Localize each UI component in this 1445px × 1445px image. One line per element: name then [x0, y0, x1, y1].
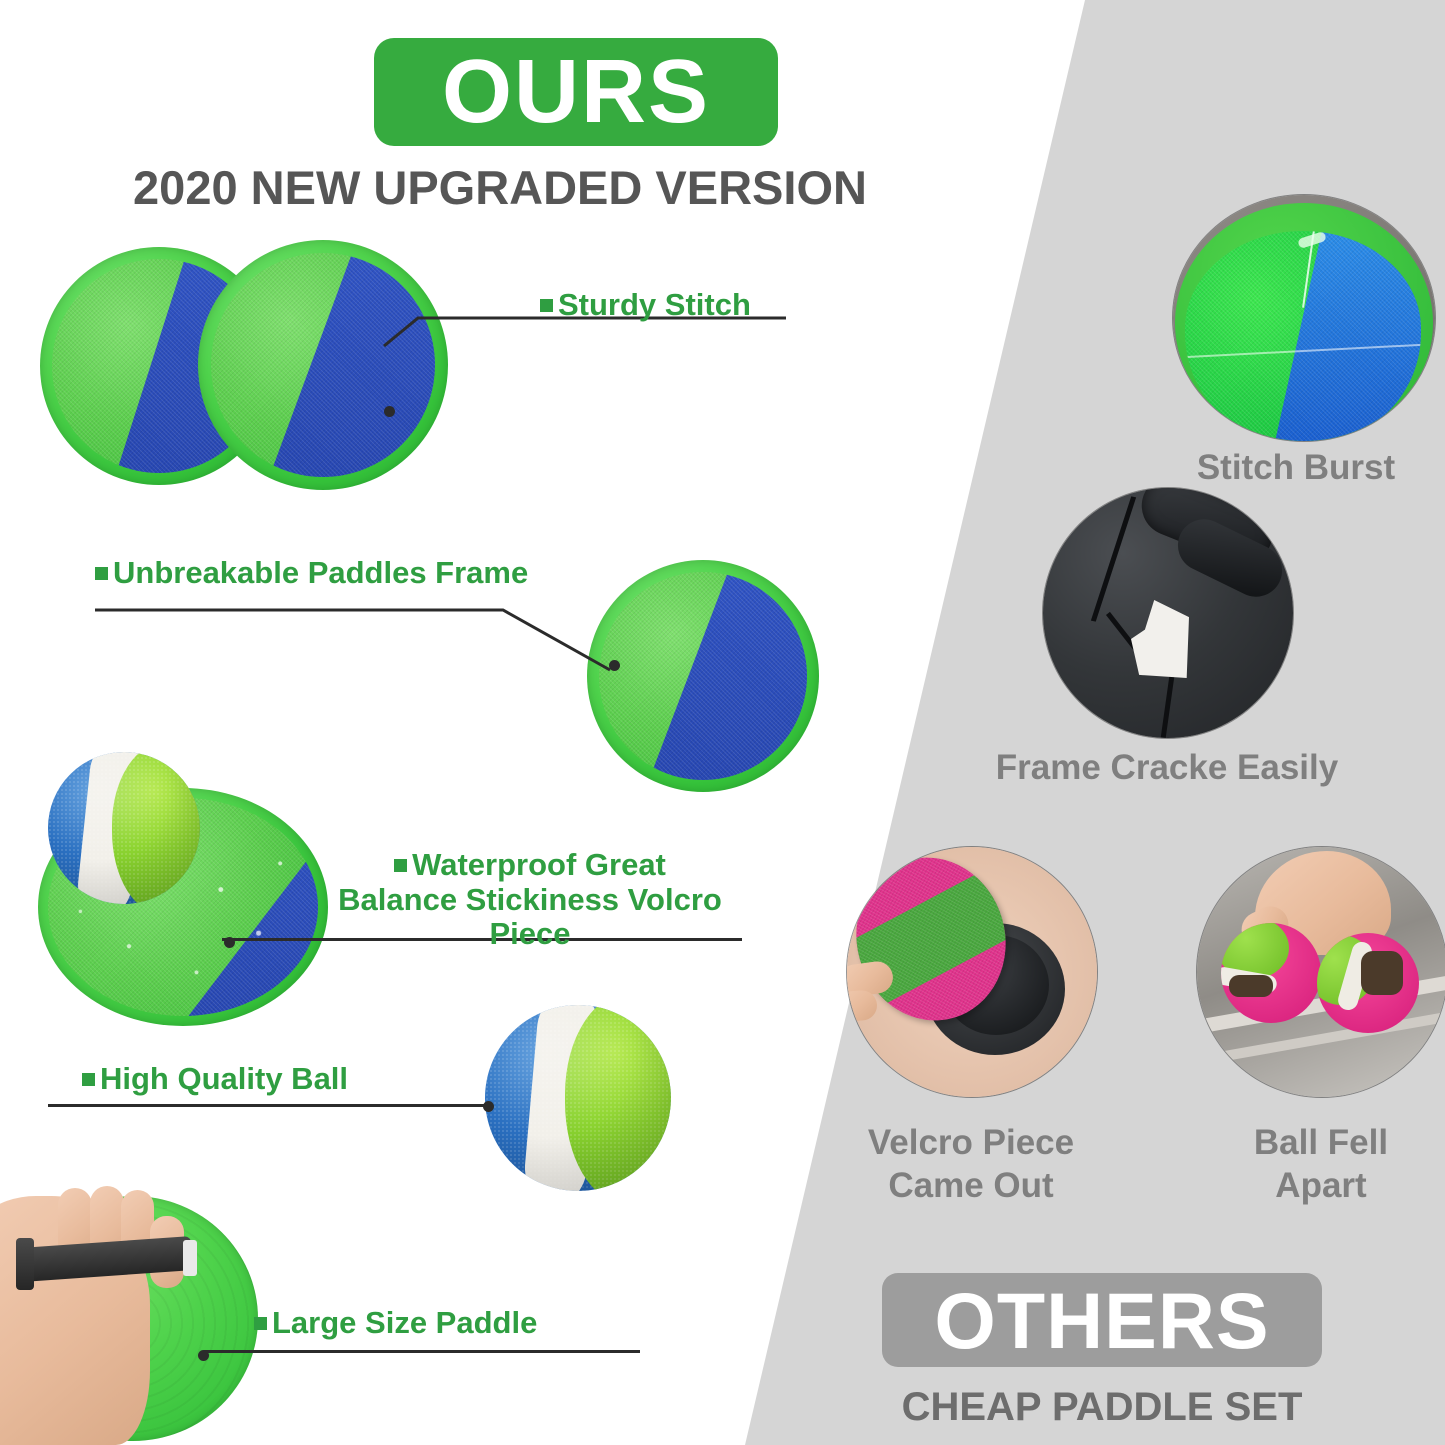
bullet-square-icon: [95, 567, 108, 580]
strap-buckle: [16, 1238, 34, 1290]
paddle-single: [587, 560, 819, 792]
ball-quality: [485, 1005, 671, 1191]
others-subtitle: CHEAP PADDLE SET: [862, 1385, 1342, 1430]
defect-label-stitch-burst: Stitch Burst: [1150, 447, 1442, 490]
callout-label-waterproof-l2: Balance Stickiness Volcro Piece: [338, 882, 722, 952]
torn-ball-1: [1221, 923, 1321, 1023]
photo-velcro-came-out: [846, 846, 1098, 1098]
strap-end: [183, 1240, 197, 1276]
leader-line-large-paddle: [204, 1350, 640, 1353]
callout-unbreakable-frame: Unbreakable Paddles Frame: [95, 556, 528, 591]
photo-waterproof-paddle: [38, 752, 338, 1014]
ours-badge: OURS: [374, 38, 778, 146]
photo-quality-ball: [485, 1005, 675, 1215]
photo-single-paddle: [587, 560, 819, 792]
callout-quality-ball: High Quality Ball: [82, 1062, 348, 1097]
torn-ball-2: [1317, 933, 1419, 1033]
callout-waterproof: Waterproof Great Balance Stickiness Volc…: [310, 848, 750, 952]
defect-label-velcro-came-out: Velcro Piece Came Out: [846, 1122, 1096, 1207]
ball-on-paddle: [48, 752, 200, 904]
ours-badge-label: OURS: [442, 47, 710, 137]
photo-hand-paddle: [0, 1196, 290, 1445]
photo-stitch-burst: [1172, 194, 1436, 442]
defect-label-frame-cracke: Frame Cracke Easily: [952, 747, 1382, 790]
callout-label-waterproof-l1: Waterproof Great: [412, 847, 666, 882]
leader-anchor-sturdy-stitch: [384, 406, 395, 417]
bullet-square-icon: [394, 859, 407, 872]
bullet-square-icon: [82, 1073, 95, 1086]
photo-frame-cracke: [1042, 487, 1294, 739]
defect-label-ball-l1: Ball Fell: [1196, 1122, 1445, 1165]
callout-sturdy-stitch: Sturdy Stitch: [540, 288, 751, 323]
bullet-square-icon: [540, 299, 553, 312]
leader-line-quality-ball: [48, 1104, 493, 1107]
ours-subtitle: 2020 NEW UPGRADED VERSION: [0, 160, 1000, 215]
paddle-front: [198, 240, 448, 490]
defect-label-velcro-l2: Came Out: [846, 1165, 1096, 1208]
callout-label-large-paddle: Large Size Paddle: [272, 1305, 537, 1340]
callout-large-paddle: Large Size Paddle: [254, 1306, 537, 1341]
callout-label-unbreakable-frame: Unbreakable Paddles Frame: [113, 555, 528, 590]
defect-label-ball-l2: Apart: [1196, 1165, 1445, 1208]
defect-label-ball-fell-apart: Ball Fell Apart: [1196, 1122, 1445, 1207]
callout-label-sturdy-stitch: Sturdy Stitch: [558, 287, 751, 322]
leader-line-unbreakable-frame: [95, 600, 615, 680]
bullet-square-icon: [254, 1317, 267, 1330]
defect-label-velcro-l1: Velcro Piece: [846, 1122, 1096, 1165]
product-comparison-infographic: OURS 2020 NEW UPGRADED VERSION S: [0, 0, 1445, 1445]
photo-ball-fell-apart: [1196, 846, 1445, 1098]
others-badge: OTHERS: [882, 1273, 1322, 1367]
photo-two-paddles: [40, 240, 470, 490]
callout-label-quality-ball: High Quality Ball: [100, 1061, 348, 1096]
others-badge-label: OTHERS: [934, 1281, 1269, 1360]
